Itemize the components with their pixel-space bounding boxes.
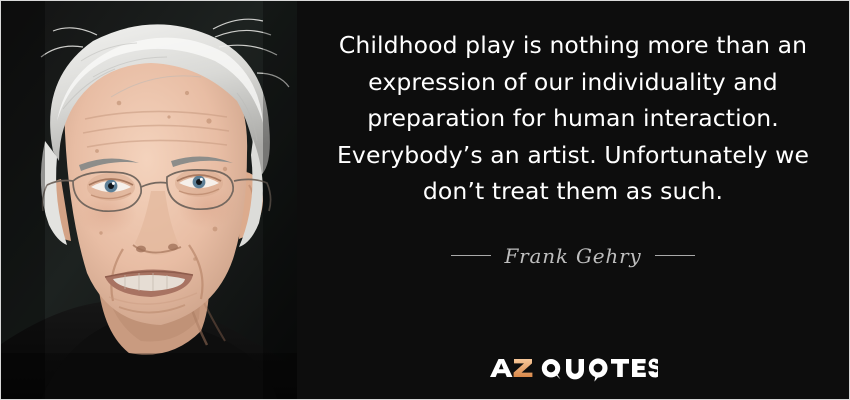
brand-speech-bubble-icon	[589, 358, 608, 381]
attribution-author[interactable]: Frank Gehry	[504, 244, 641, 268]
brand-letter-u	[566, 359, 584, 379]
brand-letter-s	[648, 359, 658, 378]
portrait-pane	[1, 1, 297, 399]
attribution-rule-right	[655, 255, 695, 256]
brand-letter-z	[514, 359, 533, 377]
quote-pane: Childhood play is nothing more than an e…	[297, 1, 849, 399]
attribution: Frank Gehry	[451, 244, 694, 268]
brand-logo[interactable]	[297, 356, 849, 382]
brand-letter-a	[490, 359, 513, 377]
brand-letter-t	[611, 359, 629, 377]
brand-letter-e	[632, 359, 646, 377]
attribution-rule-left	[451, 255, 491, 256]
brand-letter-q	[542, 359, 561, 379]
quote-text: Childhood play is nothing more than an e…	[323, 27, 823, 210]
quote-card: Childhood play is nothing more than an e…	[0, 0, 850, 400]
portrait-photo	[1, 1, 297, 399]
